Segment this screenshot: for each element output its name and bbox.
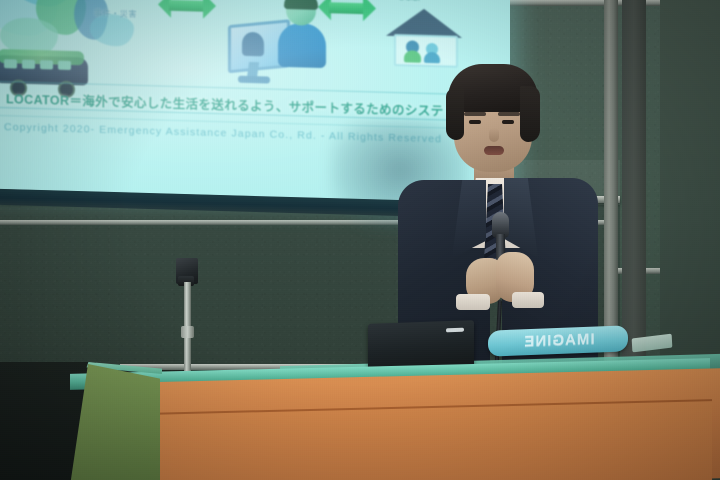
hair-side-right [520,86,540,142]
hair-side-left [446,88,464,140]
incident-label: 事件・災害 [94,8,137,20]
double-arrow-icon [318,0,376,22]
tripod-collar [181,326,194,338]
eye-left [469,120,481,124]
eyebrow-right [498,112,520,116]
mouth [484,146,504,155]
lecture-podium: IMAGINE [0,340,720,480]
right-wall-panel [660,0,720,390]
double-arrow-icon [158,0,216,19]
eye-right [502,120,514,124]
nose [489,128,499,142]
podium-inset-panel [150,399,712,480]
shirt-cuff-right [512,292,544,308]
banner-text: IMAGINE [494,329,624,351]
bus-icon [0,47,92,94]
eyebrow-left [464,112,486,116]
lecture-hall-photo: 事件・災害 ご家族 [0,0,720,480]
house-family-icon: ご家族 [386,0,462,66]
family-label: ご家族 [398,0,421,3]
slide-tagline: LOCATOR＝海外で安心した生活を送れるよう、サポートするためのシステ [6,88,444,119]
shirt-cuff-left [456,294,490,310]
laptop-latch [446,328,464,333]
operator-at-computer-icon [226,0,322,90]
banner-cushion: IMAGINE [488,325,628,356]
